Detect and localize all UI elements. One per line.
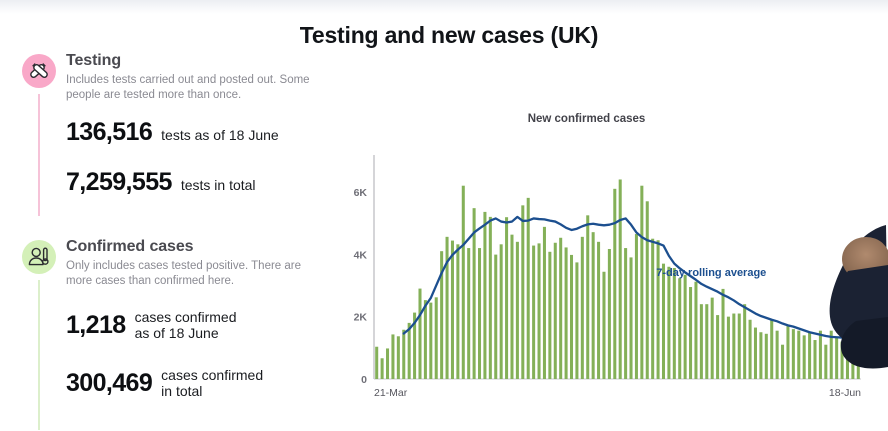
- person-thermometer-icon: [22, 240, 56, 274]
- bar: [792, 329, 795, 379]
- bar: [391, 334, 394, 379]
- bar: [803, 335, 806, 379]
- bar: [684, 275, 687, 379]
- bar: [446, 237, 449, 379]
- bar: [646, 201, 649, 379]
- bar: [418, 289, 421, 379]
- bar: [613, 189, 616, 379]
- presenter-silhouette: [818, 225, 888, 431]
- testing-heading: Testing: [66, 52, 121, 70]
- bar: [786, 326, 789, 379]
- stats-panel: Testing Includes tests carried out and p…: [0, 44, 348, 431]
- bar: [483, 212, 486, 379]
- bar: [738, 314, 741, 379]
- bar: [548, 252, 551, 379]
- stat-tests-today-label: tests as of 18 June: [161, 127, 279, 143]
- bar: [538, 243, 541, 379]
- bar: [581, 237, 584, 379]
- bar: [586, 215, 589, 379]
- bar: [386, 348, 389, 379]
- bar: [776, 331, 779, 379]
- swab-test-icon: [22, 54, 56, 88]
- bar: [570, 255, 573, 379]
- bar: [527, 198, 530, 379]
- stat-cases-total-label: cases confirmed in total: [161, 368, 263, 399]
- stat-cases-today-number: 1,218: [66, 311, 126, 340]
- stat-cases-today-label: cases confirmed as of 18 June: [135, 310, 237, 341]
- bar: [705, 304, 708, 379]
- bar: [813, 340, 816, 379]
- bar: [657, 240, 660, 379]
- cases-chart: New confirmed cases 02K4K6K21-Mar18-Jun7…: [345, 105, 888, 431]
- stat-tests-total: 7,259,555 tests in total: [66, 168, 256, 197]
- bar: [424, 300, 427, 379]
- cases-rail: [38, 280, 40, 430]
- bar: [592, 232, 595, 379]
- stat-tests-total-number: 7,259,555: [66, 168, 172, 197]
- bar: [489, 217, 492, 379]
- stat-cases-total: 300,469 cases confirmed in total: [66, 368, 263, 399]
- bar: [505, 217, 508, 379]
- bar: [640, 186, 643, 379]
- bar: [494, 255, 497, 379]
- bar: [532, 246, 535, 379]
- bar: [808, 332, 811, 379]
- y-tick-label: 2K: [354, 312, 368, 324]
- bar: [754, 328, 757, 379]
- bar: [765, 334, 768, 379]
- stat-cases-total-number: 300,469: [66, 369, 152, 398]
- bar: [456, 244, 459, 379]
- bar: [624, 248, 627, 379]
- cases-description: Only includes cases tested positive. The…: [66, 259, 324, 288]
- bar: [651, 239, 654, 379]
- chart-svg: 02K4K6K21-Mar18-Jun7-day rolling average: [345, 105, 888, 431]
- bar: [467, 248, 470, 379]
- bar: [797, 331, 800, 379]
- bar: [689, 287, 692, 379]
- bar: [462, 186, 465, 379]
- bar: [597, 242, 600, 379]
- bar: [559, 238, 562, 379]
- bar: [397, 336, 400, 379]
- bar: [694, 282, 697, 379]
- bar: [402, 330, 405, 379]
- bar: [516, 242, 519, 379]
- bar: [770, 320, 773, 379]
- y-tick-label: 0: [361, 374, 367, 386]
- bar: [743, 304, 746, 379]
- cases-heading: Confirmed cases: [66, 238, 193, 256]
- bar: [727, 317, 730, 379]
- stat-tests-today: 136,516 tests as of 18 June: [66, 118, 279, 147]
- bar: [732, 314, 735, 379]
- bar: [722, 289, 725, 379]
- bar: [630, 257, 633, 379]
- bar: [781, 345, 784, 379]
- bar: [635, 234, 638, 379]
- bar: [608, 249, 611, 379]
- y-tick-label: 6K: [354, 187, 368, 199]
- bar: [510, 235, 513, 379]
- bar: [435, 297, 438, 379]
- bar: [575, 262, 578, 379]
- dashboard-page: Testing and new cases (UK) Testing: [0, 0, 888, 431]
- bar: [602, 272, 605, 379]
- bar-series: [375, 179, 860, 379]
- bar: [716, 315, 719, 379]
- bar: [543, 227, 546, 379]
- top-gradient-band: [0, 0, 888, 14]
- bar: [662, 264, 665, 379]
- bar: [478, 248, 481, 379]
- bar: [500, 244, 503, 379]
- rolling-average-annotation: 7-day rolling average: [656, 267, 766, 279]
- bar: [749, 320, 752, 379]
- testing-description: Includes tests carried out and posted ou…: [66, 73, 324, 102]
- bar: [619, 179, 622, 379]
- x-tick-label-start: 21-Mar: [374, 387, 408, 399]
- bar: [700, 304, 703, 379]
- y-tick-label: 4K: [354, 249, 368, 261]
- bar: [429, 303, 432, 379]
- bar: [381, 358, 384, 379]
- bar: [678, 278, 681, 379]
- bar: [759, 332, 762, 379]
- bar: [565, 247, 568, 379]
- chart-plot-area: 02K4K6K21-Mar18-Jun7-day rolling average: [345, 105, 888, 431]
- testing-rail: [38, 94, 40, 216]
- stat-cases-today: 1,218 cases confirmed as of 18 June: [66, 310, 237, 341]
- bar: [711, 298, 714, 379]
- bar: [554, 243, 557, 379]
- stat-tests-today-number: 136,516: [66, 118, 152, 147]
- bar: [673, 268, 676, 379]
- bar: [451, 241, 454, 379]
- bar: [375, 347, 378, 379]
- bar: [667, 267, 670, 379]
- stat-tests-total-label: tests in total: [181, 177, 256, 193]
- bar: [521, 205, 524, 379]
